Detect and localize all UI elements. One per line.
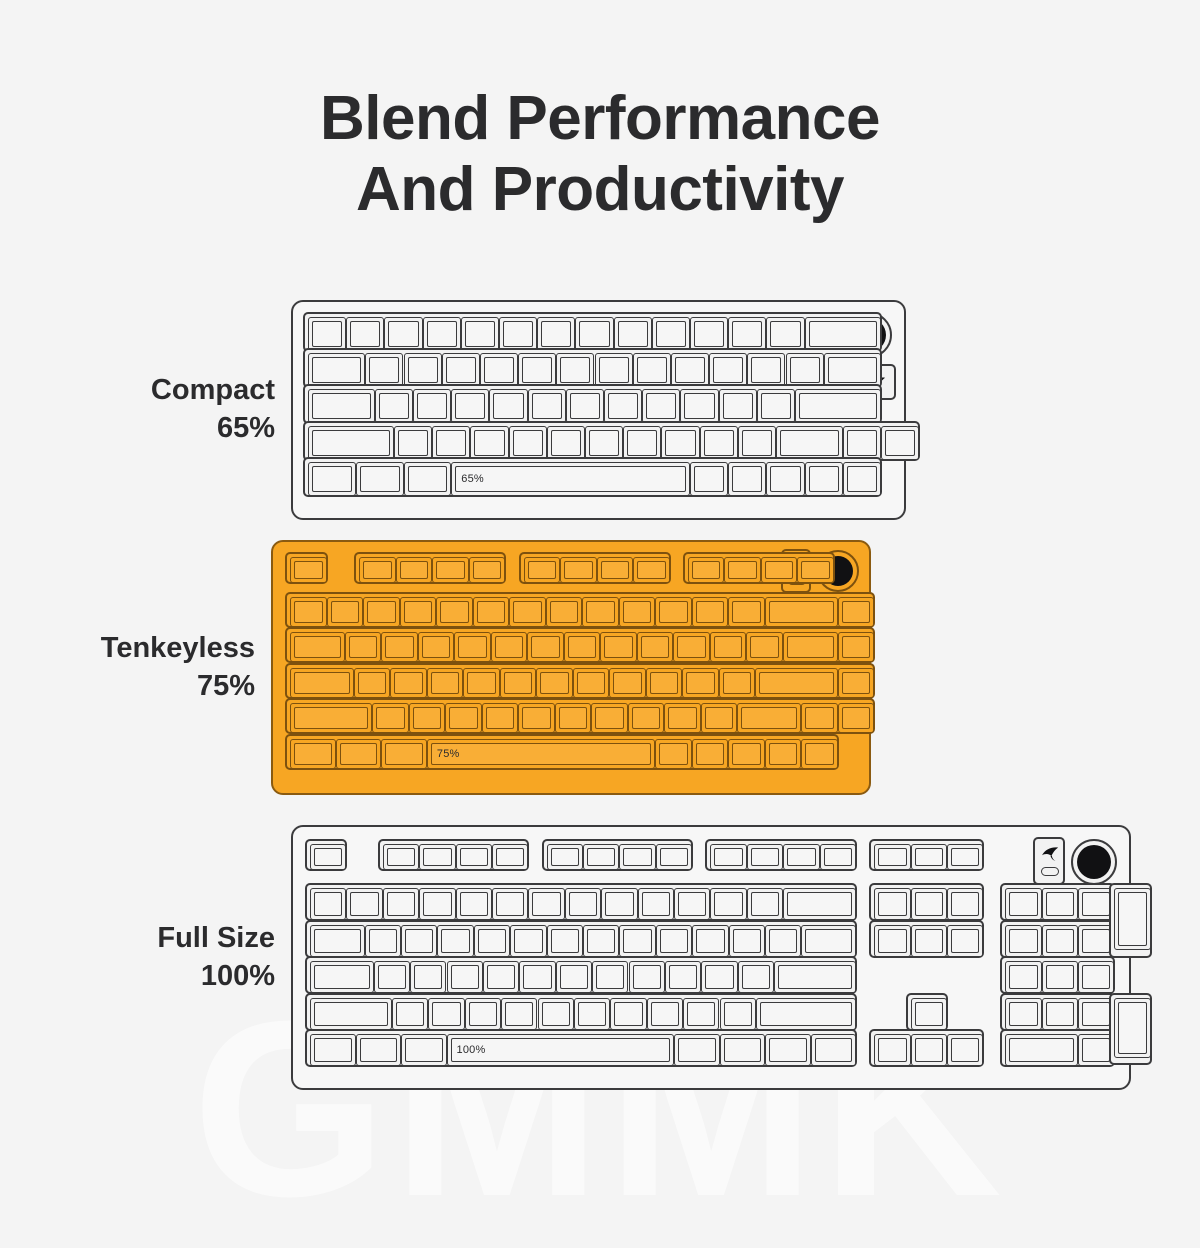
keycap[interactable] xyxy=(547,426,585,460)
keycap[interactable] xyxy=(629,961,665,993)
keycap[interactable] xyxy=(409,703,446,733)
keycap[interactable] xyxy=(427,668,464,698)
keycap[interactable] xyxy=(874,844,910,870)
keycap[interactable] xyxy=(546,597,583,627)
keycap[interactable] xyxy=(401,1034,447,1066)
keycap[interactable] xyxy=(881,426,919,460)
keycap[interactable] xyxy=(710,632,747,662)
keycap[interactable] xyxy=(766,462,804,496)
keycap[interactable] xyxy=(633,557,670,583)
keycap[interactable] xyxy=(519,961,555,993)
keycap[interactable] xyxy=(500,668,537,698)
keyboard-compact-65[interactable]: 65% xyxy=(291,300,906,520)
keycap[interactable] xyxy=(451,389,489,423)
keycap[interactable] xyxy=(619,925,655,957)
key-group-plate xyxy=(1000,1029,1115,1067)
keycap[interactable] xyxy=(566,389,604,423)
keycap[interactable] xyxy=(410,961,446,993)
key-group-plate xyxy=(869,920,984,958)
page-title-line-1: Blend Performance xyxy=(0,84,1200,155)
keycap[interactable] xyxy=(661,426,699,460)
keycap[interactable] xyxy=(442,353,480,387)
keycap[interactable]: 100% xyxy=(447,1034,675,1066)
keycap[interactable] xyxy=(719,668,756,698)
keycap[interactable] xyxy=(1005,961,1041,993)
keycap[interactable] xyxy=(310,888,346,920)
keycap[interactable] xyxy=(518,353,556,387)
keycap[interactable] xyxy=(436,597,473,627)
keycap[interactable] xyxy=(518,703,555,733)
keyboard-label-compact-name: Compact xyxy=(151,374,275,406)
keycap[interactable] xyxy=(418,632,455,662)
keycap[interactable]: 75% xyxy=(427,739,655,769)
keycap[interactable] xyxy=(356,462,404,496)
keycap[interactable] xyxy=(483,961,519,993)
keycap[interactable] xyxy=(701,961,737,993)
keycap[interactable] xyxy=(874,1034,910,1066)
keycap[interactable] xyxy=(947,844,983,870)
keycap[interactable] xyxy=(646,668,683,698)
keycap[interactable] xyxy=(728,597,765,627)
keycap[interactable] xyxy=(1042,961,1078,993)
keycap[interactable] xyxy=(843,462,881,496)
keycap[interactable] xyxy=(756,998,856,1030)
key-group-plate xyxy=(869,839,984,871)
keycap[interactable] xyxy=(838,703,875,733)
indicator-pill-icon xyxy=(1041,867,1059,876)
keycap[interactable] xyxy=(445,703,482,733)
keycap[interactable] xyxy=(747,353,785,387)
keycap[interactable] xyxy=(811,1034,857,1066)
keycap[interactable] xyxy=(1042,925,1078,957)
keycap[interactable] xyxy=(674,888,710,920)
keycap[interactable] xyxy=(786,353,824,387)
keyboard-label-compact-percent: 65% xyxy=(60,410,275,448)
keycap[interactable] xyxy=(528,888,564,920)
keycap[interactable] xyxy=(365,353,403,387)
keycap[interactable] xyxy=(728,317,766,351)
keycap[interactable] xyxy=(724,557,761,583)
keycap[interactable] xyxy=(308,389,375,423)
keycap[interactable] xyxy=(776,426,843,460)
keycap[interactable] xyxy=(765,739,802,769)
keycap[interactable] xyxy=(601,888,637,920)
keycap[interactable] xyxy=(710,888,746,920)
keycap[interactable] xyxy=(396,557,433,583)
keyboard-full-size-100[interactable]: 100% xyxy=(291,825,1131,1090)
keycap[interactable] xyxy=(356,1034,402,1066)
keycap[interactable] xyxy=(680,389,718,423)
keycap[interactable] xyxy=(652,317,690,351)
keycap[interactable] xyxy=(290,557,327,583)
keycap[interactable] xyxy=(400,597,437,627)
keycap[interactable] xyxy=(419,844,455,870)
keycap[interactable] xyxy=(874,888,910,920)
keycap[interactable] xyxy=(469,557,506,583)
keycap[interactable] xyxy=(738,426,776,460)
keycap[interactable] xyxy=(336,739,382,769)
page-title: Blend Performance And Productivity xyxy=(0,0,1200,225)
keycap[interactable] xyxy=(583,925,619,957)
keycap[interactable] xyxy=(1042,998,1078,1030)
keycap[interactable] xyxy=(423,317,461,351)
keycap[interactable] xyxy=(573,668,610,698)
keycap[interactable] xyxy=(290,597,327,627)
keycap[interactable] xyxy=(528,389,566,423)
keycap[interactable] xyxy=(1114,888,1150,950)
keycap[interactable] xyxy=(674,1034,720,1066)
keycap[interactable] xyxy=(381,632,418,662)
keycap[interactable] xyxy=(700,426,738,460)
keycap[interactable] xyxy=(575,317,613,351)
keycap[interactable] xyxy=(838,668,875,698)
keycap[interactable] xyxy=(547,925,583,957)
keycap[interactable] xyxy=(346,888,382,920)
keycap[interactable] xyxy=(359,557,396,583)
keycap[interactable] xyxy=(765,597,838,627)
keycap[interactable] xyxy=(797,557,834,583)
keycap[interactable] xyxy=(655,739,692,769)
keycap[interactable] xyxy=(720,998,756,1030)
keycap[interactable] xyxy=(609,668,646,698)
keycap[interactable] xyxy=(623,426,661,460)
keycap[interactable] xyxy=(738,961,774,993)
key-group-plate xyxy=(303,384,882,424)
keycap[interactable] xyxy=(585,426,623,460)
keyboard-tenkeyless-75[interactable]: 75% xyxy=(271,540,871,795)
keycap[interactable] xyxy=(610,998,646,1030)
keycap[interactable] xyxy=(614,317,652,351)
keycap[interactable] xyxy=(456,888,492,920)
keycap[interactable] xyxy=(619,844,655,870)
keycap[interactable] xyxy=(1042,888,1078,920)
keycap[interactable] xyxy=(310,844,346,870)
keycap[interactable] xyxy=(690,462,728,496)
keycap[interactable] xyxy=(401,925,437,957)
keycap[interactable] xyxy=(911,998,947,1030)
keycap[interactable] xyxy=(747,888,783,920)
keycap[interactable] xyxy=(692,925,728,957)
keycap[interactable] xyxy=(556,353,594,387)
keyboard-label-full-size-name: Full Size xyxy=(157,922,275,954)
keycap[interactable] xyxy=(801,925,856,957)
keycap[interactable] xyxy=(383,888,419,920)
key-group-plate xyxy=(305,883,857,921)
keycap[interactable] xyxy=(555,703,592,733)
key-group-plate xyxy=(303,421,920,461)
gmmk-bird-logo-icon xyxy=(1040,845,1061,862)
keycap[interactable] xyxy=(638,888,674,920)
keycap[interactable] xyxy=(428,998,464,1030)
keycap[interactable] xyxy=(537,317,575,351)
key-group-plate: 75% xyxy=(285,734,839,770)
keycap[interactable] xyxy=(656,925,692,957)
keycap[interactable] xyxy=(308,317,346,351)
keycap[interactable]: 65% xyxy=(451,462,690,496)
key-group-plate xyxy=(519,552,671,584)
keyboard-label-tenkeyless: Tenkeyless 75% xyxy=(40,630,271,705)
keycap[interactable] xyxy=(492,844,528,870)
keycap[interactable] xyxy=(383,844,419,870)
keycap[interactable] xyxy=(595,353,633,387)
keycap[interactable] xyxy=(384,317,422,351)
keycap[interactable] xyxy=(374,961,410,993)
keycap[interactable] xyxy=(682,668,719,698)
key-group-plate xyxy=(305,839,347,871)
keycap[interactable] xyxy=(372,703,409,733)
key-group-plate xyxy=(705,839,857,871)
key-group-plate xyxy=(303,312,882,352)
key-group-plate xyxy=(542,839,694,871)
key-group-plate xyxy=(1000,993,1115,1031)
keycap[interactable] xyxy=(354,668,391,698)
key-group-plate xyxy=(683,552,835,584)
keycap[interactable] xyxy=(801,739,838,769)
keycap[interactable] xyxy=(404,353,442,387)
keycap[interactable] xyxy=(820,844,856,870)
keycap[interactable] xyxy=(463,668,500,698)
keycap[interactable] xyxy=(673,632,710,662)
keycap[interactable] xyxy=(461,317,499,351)
keyboard-row-full-size: Full Size 100% 100% xyxy=(60,825,1131,1090)
keycap[interactable] xyxy=(1005,925,1041,957)
keycap[interactable] xyxy=(547,844,583,870)
keycap[interactable] xyxy=(310,925,365,957)
keycap[interactable] xyxy=(390,668,427,698)
key-group-plate xyxy=(378,839,530,871)
key-group-plate xyxy=(1000,956,1115,994)
keycap[interactable] xyxy=(628,703,665,733)
keycap[interactable] xyxy=(1005,1034,1078,1066)
key-group-plate xyxy=(869,1029,984,1067)
keycap[interactable] xyxy=(688,557,725,583)
keycap[interactable] xyxy=(456,844,492,870)
keyboard-label-tenkeyless-name: Tenkeyless xyxy=(101,632,255,664)
keycap[interactable] xyxy=(527,632,564,662)
keycap[interactable] xyxy=(413,389,451,423)
keycap[interactable] xyxy=(838,597,875,627)
keycap[interactable] xyxy=(491,632,528,662)
keycap[interactable] xyxy=(690,317,728,351)
keycap[interactable] xyxy=(465,998,501,1030)
keycap[interactable] xyxy=(290,668,354,698)
keycap[interactable] xyxy=(664,703,701,733)
key-group-plate xyxy=(1109,883,1151,958)
keycap[interactable] xyxy=(432,557,469,583)
keycap[interactable] xyxy=(947,925,983,957)
keycap-size-label: 65% xyxy=(461,473,484,485)
keycap[interactable] xyxy=(656,844,692,870)
keycap[interactable] xyxy=(692,597,729,627)
keyboard-row-tenkeyless: Tenkeyless 75% 75% xyxy=(40,540,871,795)
keycap[interactable] xyxy=(737,703,801,733)
keycap[interactable] xyxy=(805,462,843,496)
keycap[interactable] xyxy=(556,961,592,993)
keycap[interactable] xyxy=(774,961,856,993)
keycap[interactable] xyxy=(538,998,574,1030)
keycap[interactable] xyxy=(874,925,910,957)
keycap[interactable] xyxy=(1005,998,1041,1030)
keycap[interactable] xyxy=(746,632,783,662)
keycap[interactable] xyxy=(375,389,413,423)
keycap[interactable] xyxy=(838,632,875,662)
keycap[interactable] xyxy=(510,925,546,957)
key-group-plate xyxy=(303,348,882,388)
keycap[interactable] xyxy=(692,739,729,769)
keycap-size-label: 75% xyxy=(437,748,460,760)
keycap[interactable] xyxy=(647,998,683,1030)
keycap[interactable] xyxy=(947,1034,983,1066)
keycap[interactable] xyxy=(499,317,537,351)
keycap[interactable] xyxy=(509,426,547,460)
page-root: Blend Performance And Productivity Compa… xyxy=(0,0,1200,225)
keycap[interactable] xyxy=(600,632,637,662)
rotary-knob-icon[interactable] xyxy=(1071,839,1117,885)
keycap[interactable] xyxy=(911,888,947,920)
keycap[interactable] xyxy=(447,961,483,993)
keycap[interactable] xyxy=(755,668,837,698)
keycap[interactable] xyxy=(346,317,384,351)
keycap[interactable] xyxy=(709,353,747,387)
keycap[interactable] xyxy=(509,597,546,627)
keycap[interactable] xyxy=(432,426,470,460)
keycap[interactable] xyxy=(801,703,838,733)
keycap[interactable] xyxy=(765,925,801,957)
keycap[interactable] xyxy=(604,389,642,423)
keyboard-label-full-size: Full Size 100% xyxy=(60,920,291,995)
keycap[interactable] xyxy=(310,1034,356,1066)
keycap[interactable] xyxy=(683,998,719,1030)
keycap[interactable] xyxy=(394,426,432,460)
keycap[interactable] xyxy=(719,389,757,423)
key-group-plate xyxy=(285,698,875,734)
key-group-plate xyxy=(1000,920,1115,958)
keycap-size-label: 100% xyxy=(457,1044,486,1056)
keycap[interactable] xyxy=(560,557,597,583)
keycap[interactable] xyxy=(665,961,701,993)
keycap[interactable] xyxy=(582,597,619,627)
keycap[interactable] xyxy=(783,844,819,870)
keycap[interactable] xyxy=(592,961,628,993)
key-group-plate xyxy=(285,627,875,663)
keycap[interactable] xyxy=(290,739,336,769)
keycap[interactable] xyxy=(308,462,356,496)
keycap[interactable] xyxy=(619,597,656,627)
keycap[interactable] xyxy=(747,844,783,870)
keycap[interactable] xyxy=(583,844,619,870)
keycap[interactable] xyxy=(824,353,881,387)
key-group-plate xyxy=(305,920,857,958)
keycap[interactable] xyxy=(761,557,798,583)
keycap[interactable] xyxy=(363,597,400,627)
keycap[interactable] xyxy=(911,925,947,957)
keyboard-label-compact: Compact 65% xyxy=(60,372,291,447)
keycap[interactable] xyxy=(536,668,573,698)
keycap[interactable] xyxy=(470,426,508,460)
keycap[interactable] xyxy=(728,739,765,769)
keycap[interactable] xyxy=(482,703,519,733)
keycap[interactable] xyxy=(419,888,455,920)
keycap[interactable] xyxy=(911,844,947,870)
keycap[interactable] xyxy=(565,888,601,920)
keycap[interactable] xyxy=(564,632,601,662)
keycap[interactable] xyxy=(308,426,394,460)
key-group-plate xyxy=(305,956,857,994)
keycap[interactable] xyxy=(574,998,610,1030)
keycap[interactable] xyxy=(655,597,692,627)
key-group-plate: 100% xyxy=(305,1029,857,1067)
keycap[interactable] xyxy=(729,925,765,957)
key-group-plate xyxy=(305,993,857,1031)
keycap[interactable] xyxy=(489,389,527,423)
keycap[interactable] xyxy=(492,888,528,920)
keycap[interactable] xyxy=(1078,961,1114,993)
keycap[interactable] xyxy=(290,703,372,733)
key-group-plate xyxy=(285,592,875,628)
keycap[interactable] xyxy=(404,462,452,496)
keycap[interactable] xyxy=(843,426,881,460)
key-group-plate xyxy=(354,552,506,584)
keycap[interactable] xyxy=(783,888,856,920)
keycap[interactable] xyxy=(765,1034,811,1066)
keycap[interactable] xyxy=(671,353,709,387)
keycap[interactable] xyxy=(805,317,881,351)
key-group-plate xyxy=(285,663,875,699)
keycap[interactable] xyxy=(637,632,674,662)
keycap[interactable] xyxy=(327,597,364,627)
keycap[interactable] xyxy=(381,739,427,769)
keycap[interactable] xyxy=(642,389,680,423)
keycap[interactable] xyxy=(591,703,628,733)
keycap[interactable] xyxy=(757,389,795,423)
keycap[interactable] xyxy=(795,389,881,423)
keycap[interactable] xyxy=(437,925,473,957)
keycap[interactable] xyxy=(392,998,428,1030)
keycap[interactable] xyxy=(454,632,491,662)
keycap[interactable] xyxy=(783,632,838,662)
keycap[interactable] xyxy=(1005,888,1041,920)
keycap[interactable] xyxy=(710,844,746,870)
keycap[interactable] xyxy=(947,888,983,920)
keycap[interactable] xyxy=(308,353,365,387)
key-group-plate xyxy=(869,883,984,921)
keycap[interactable] xyxy=(474,925,510,957)
key-group-plate: 65% xyxy=(303,457,882,497)
keycap[interactable] xyxy=(911,1034,947,1066)
key-group-plate xyxy=(1000,883,1115,921)
keycap[interactable] xyxy=(290,632,345,662)
keycap[interactable] xyxy=(728,462,766,496)
page-title-line-2: And Productivity xyxy=(0,155,1200,226)
keycap[interactable] xyxy=(633,353,671,387)
keycap[interactable] xyxy=(345,632,382,662)
key-group-plate xyxy=(285,552,328,584)
keycap[interactable] xyxy=(766,317,804,351)
keyboard-label-full-size-percent: 100% xyxy=(60,958,275,996)
keycap[interactable] xyxy=(480,353,518,387)
keycap[interactable] xyxy=(310,961,374,993)
keycap[interactable] xyxy=(501,998,537,1030)
keycap[interactable] xyxy=(1114,998,1150,1059)
key-group-plate xyxy=(906,993,948,1031)
keycap[interactable] xyxy=(473,597,510,627)
keycap[interactable] xyxy=(597,557,634,583)
keycap[interactable] xyxy=(720,1034,766,1066)
keycap[interactable] xyxy=(524,557,561,583)
keycap[interactable] xyxy=(310,998,392,1030)
keycap[interactable] xyxy=(365,925,401,957)
keycap[interactable] xyxy=(701,703,738,733)
